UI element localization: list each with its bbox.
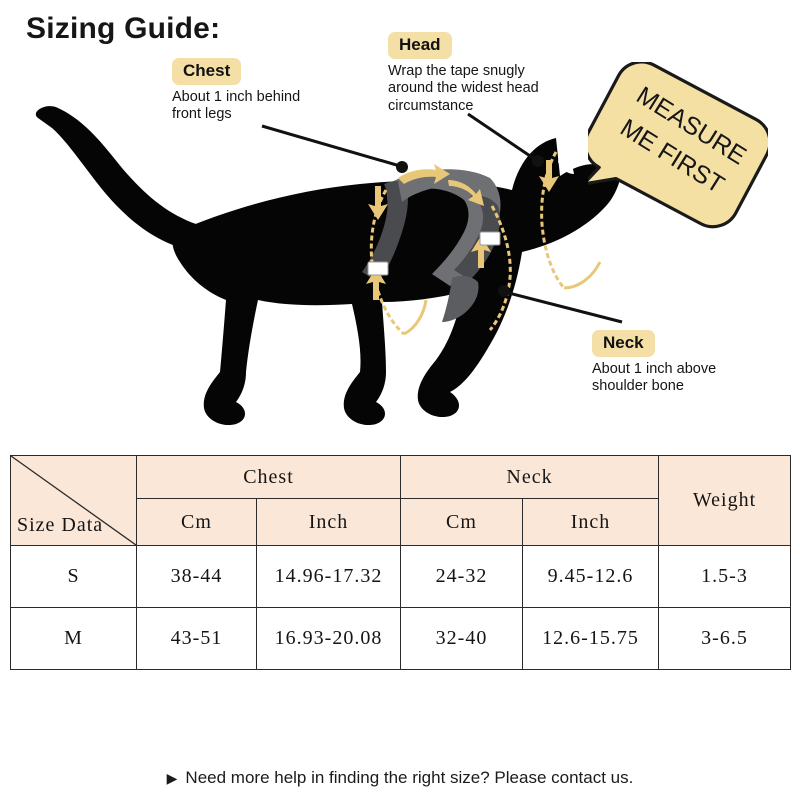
cell-neck-inch: 9.45-12.6 xyxy=(523,546,659,608)
cat-ear-inner-icon xyxy=(558,148,574,174)
cell-chest-inch: 16.93-20.08 xyxy=(257,608,401,670)
cell-neck-cm: 24-32 xyxy=(401,546,523,608)
sizing-guide-page: Sizing Guide: xyxy=(0,0,800,800)
head-badge: Head xyxy=(388,32,452,59)
size-chart-table: Size Data Chest Neck Weight Cm Inch Cm I… xyxy=(10,455,791,670)
sub-header-chest-inch: Inch xyxy=(257,499,401,546)
cell-weight-kg: 3-6.5 xyxy=(659,608,791,670)
corner-label: Size Data xyxy=(17,514,103,537)
tape-head-loop-back xyxy=(564,262,600,288)
tape-chest-loop-back xyxy=(404,300,426,334)
measure-first-bubble: MEASURE ME FIRST xyxy=(588,62,768,232)
sub-header-neck-cm: Cm xyxy=(401,499,523,546)
neck-description: About 1 inch above shoulder bone xyxy=(592,361,716,396)
head-description: Wrap the tape snugly around the widest h… xyxy=(388,63,539,116)
cell-size: S xyxy=(11,546,137,608)
chest-badge: Chest xyxy=(172,58,241,85)
sub-header-chest-cm: Cm xyxy=(137,499,257,546)
group-header-neck: Neck xyxy=(401,456,659,499)
cell-weight-kg: 1.5-3 xyxy=(659,546,791,608)
buckle-neck-icon xyxy=(480,232,500,245)
leader-line-neck xyxy=(505,292,622,322)
cell-neck-cm: 32-40 xyxy=(401,608,523,670)
callout-head: Head Wrap the tape snugly around the wid… xyxy=(388,32,539,116)
cell-chest-cm: 38-44 xyxy=(137,546,257,608)
triangle-bullet-icon: ▶ xyxy=(167,770,178,786)
table-row: M 43-51 16.93-20.08 32-40 12.6-15.75 3-6… xyxy=(11,608,791,670)
table-body: S 38-44 14.96-17.32 24-32 9.45-12.6 1.5-… xyxy=(11,546,791,670)
leader-line-head xyxy=(468,114,536,160)
group-header-weight: Weight xyxy=(659,456,791,546)
buckle-chest-icon xyxy=(368,262,388,275)
table-head: Size Data Chest Neck Weight Cm Inch Cm I… xyxy=(11,456,791,546)
cell-neck-inch: 12.6-15.75 xyxy=(523,608,659,670)
cat-body-icon xyxy=(173,132,623,425)
leader-dot-head xyxy=(532,155,544,167)
corner-size-data-cell: Size Data xyxy=(11,456,137,546)
cell-size: M xyxy=(11,608,137,670)
cat-tail-icon xyxy=(36,106,196,252)
group-header-chest: Chest xyxy=(137,456,401,499)
cat-silhouette-group xyxy=(36,106,623,425)
table-header-row-groups: Size Data Chest Neck Weight xyxy=(11,456,791,499)
leader-dot-chest xyxy=(396,161,408,173)
leader-dot-neck xyxy=(498,285,510,297)
table-row: S 38-44 14.96-17.32 24-32 9.45-12.6 1.5-… xyxy=(11,546,791,608)
cell-chest-inch: 14.96-17.32 xyxy=(257,546,401,608)
callout-chest: Chest About 1 inch behind front legs xyxy=(172,58,300,124)
footer-text: Need more help in finding the right size… xyxy=(185,768,633,787)
sub-header-neck-inch: Inch xyxy=(523,499,659,546)
neck-badge: Neck xyxy=(592,330,655,357)
cell-chest-cm: 43-51 xyxy=(137,608,257,670)
callout-neck: Neck About 1 inch above shoulder bone xyxy=(592,330,716,396)
leader-line-chest xyxy=(262,126,400,166)
chest-description: About 1 inch behind front legs xyxy=(172,89,300,124)
footer-help-text: ▶Need more help in finding the right siz… xyxy=(0,768,800,788)
